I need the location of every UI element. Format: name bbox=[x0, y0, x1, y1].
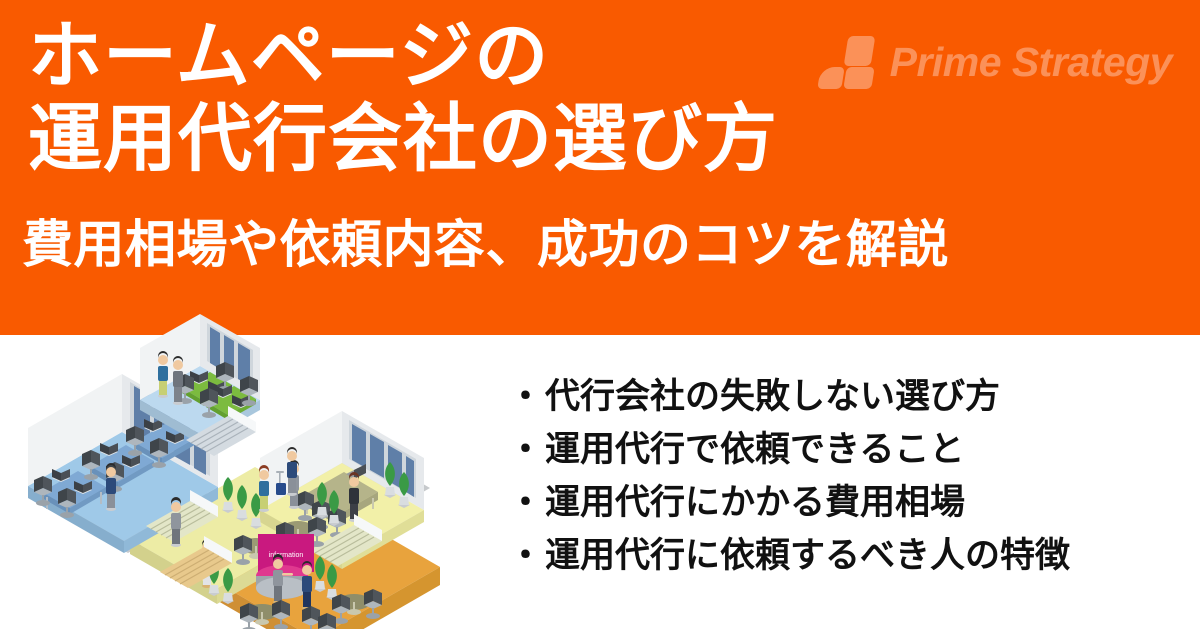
person bbox=[302, 561, 312, 610]
page-subtitle: 費用相場や依頼内容、成功のコツを解説 bbox=[22, 215, 949, 275]
person bbox=[158, 351, 168, 398]
list-item: ・ 運用代行で依頼できること bbox=[508, 425, 1128, 474]
person bbox=[106, 463, 116, 511]
list-item-label: 運用代行にかかる費用相場 bbox=[545, 478, 965, 527]
list-item: ・ 運用代行に依頼するべき人の特徴 bbox=[508, 531, 1128, 580]
list-item-label: 運用代行に依頼するべき人の特徴 bbox=[545, 531, 1070, 580]
isometric-office-illustration: information bbox=[10, 296, 510, 629]
bullet-dot-icon: ・ bbox=[508, 531, 543, 580]
prime-strategy-logo: Prime Strategy bbox=[819, 34, 1172, 90]
article-thumbnail-banner: Prime Strategy ホームページの 運用代行会社の選び方 費用相場や依… bbox=[0, 0, 1200, 629]
bullet-dot-icon: ・ bbox=[508, 478, 543, 527]
person bbox=[173, 356, 183, 405]
list-item-label: 運用代行で依頼できること bbox=[545, 425, 964, 474]
person bbox=[287, 447, 297, 496]
person bbox=[171, 497, 181, 547]
bullet-dot-icon: ・ bbox=[508, 425, 543, 474]
logo-wordmark: Prime Strategy bbox=[890, 42, 1172, 83]
title-line-1: ホームページの bbox=[28, 14, 778, 97]
prime-strategy-logomark-icon bbox=[819, 34, 877, 90]
page-title: ホームページの 運用代行会社の選び方 bbox=[28, 14, 778, 180]
topic-list: ・ 代行会社の失敗しない選び方 ・ 運用代行で依頼できること ・ 運用代行にかか… bbox=[508, 372, 1128, 584]
bullet-dot-icon: ・ bbox=[508, 372, 543, 421]
list-item: ・ 代行会社の失敗しない選び方 bbox=[508, 372, 1128, 421]
list-item-label: 代行会社の失敗しない選び方 bbox=[545, 372, 1000, 421]
title-line-2: 運用代行会社の選び方 bbox=[28, 97, 778, 180]
list-item: ・ 運用代行にかかる費用相場 bbox=[508, 478, 1128, 527]
person bbox=[259, 465, 269, 512]
